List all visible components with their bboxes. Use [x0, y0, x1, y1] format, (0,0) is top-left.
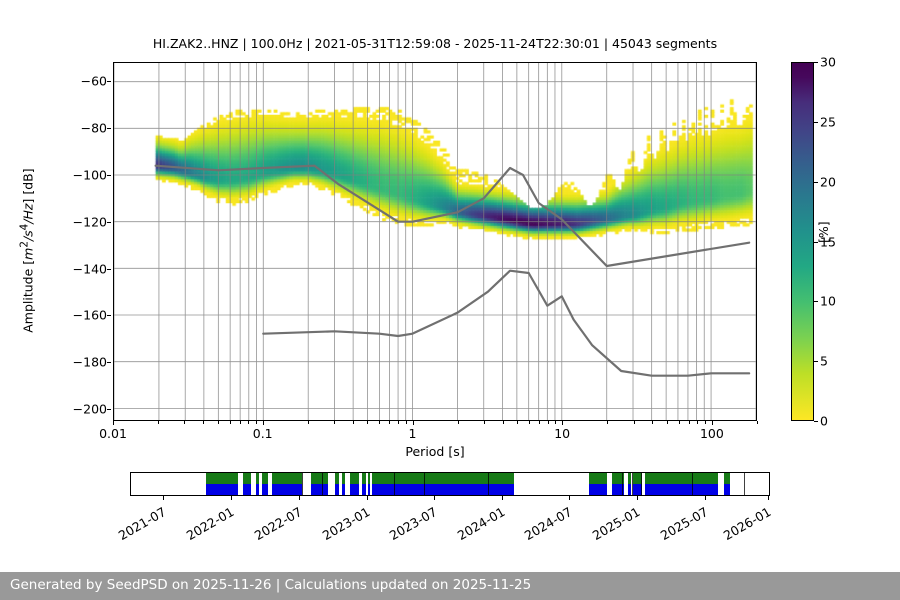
- timeline-segment[interactable]: [262, 473, 268, 495]
- psd-plot-area[interactable]: [113, 62, 757, 421]
- timeline-segment[interactable]: [206, 473, 239, 495]
- timeline-segment-upper: [272, 473, 303, 484]
- data-availability-timeline[interactable]: [130, 472, 770, 496]
- colorbar-tick-mark: [814, 182, 818, 183]
- x-tick-mark: [406, 421, 407, 424]
- timeline-tick-label: 2022-07: [252, 504, 305, 543]
- timeline-tick-label: 2023-01: [319, 504, 372, 543]
- x-axis-label: Period [s]: [113, 444, 757, 459]
- x-tick-mark: [256, 421, 257, 424]
- timeline-segment[interactable]: [342, 473, 345, 495]
- timeline-segment-upper: [724, 473, 730, 484]
- timeline-gap-marker: [322, 473, 323, 495]
- timeline-segment[interactable]: [368, 473, 370, 495]
- x-tick-label: 0.01: [99, 426, 127, 441]
- timeline-segment[interactable]: [645, 473, 718, 495]
- colorbar-tick-label: 10: [820, 294, 836, 309]
- x-tick-mark: [712, 421, 713, 425]
- timeline-segment-upper: [311, 473, 328, 484]
- x-tick-mark: [367, 421, 368, 424]
- y-tick-mark: [107, 222, 111, 223]
- footer-text: Generated by SeedPSD on 2025-11-26 | Cal…: [10, 577, 531, 593]
- timeline-tick-mark: [163, 496, 164, 500]
- x-tick-mark: [679, 421, 680, 424]
- x-tick-label: 10: [554, 426, 570, 441]
- x-tick-mark: [634, 421, 635, 424]
- timeline-segment-lower: [272, 484, 303, 495]
- timeline-segment-upper: [206, 473, 239, 484]
- x-tick-label: 1: [409, 426, 417, 441]
- x-tick-mark: [667, 421, 668, 424]
- x-tick-mark: [184, 421, 185, 424]
- colorbar-tick-label: 0: [820, 414, 828, 429]
- colorbar-tick-label: 15: [820, 234, 836, 249]
- timeline-tick-label: 2021-07: [116, 504, 169, 543]
- timeline-segment-lower: [243, 484, 251, 495]
- x-tick-mark: [607, 421, 608, 424]
- colorbar-tick-mark: [814, 301, 818, 302]
- psd-figure: HI.ZAK2..HNZ | 100.0Hz | 2021-05-31T12:5…: [0, 0, 900, 600]
- timeline-segment[interactable]: [335, 473, 339, 495]
- y-tick-mark: [107, 128, 111, 129]
- x-tick-mark: [484, 421, 485, 424]
- colorbar-tick-label: 20: [820, 174, 836, 189]
- timeline-segment-lower: [350, 484, 359, 495]
- timeline-gap-marker: [302, 473, 303, 495]
- x-tick-mark: [503, 421, 504, 424]
- timeline-segment[interactable]: [362, 473, 366, 495]
- timeline-gap-marker: [641, 473, 642, 495]
- x-tick-mark: [379, 421, 380, 424]
- timeline-tick-label: 2024-01: [454, 504, 507, 543]
- timeline-segment[interactable]: [724, 473, 730, 495]
- timeline-gap-marker: [488, 473, 489, 495]
- timeline-segment[interactable]: [256, 473, 259, 495]
- x-tick-mark: [548, 421, 549, 424]
- y-tick-label: −60: [81, 73, 107, 88]
- x-tick-mark: [398, 421, 399, 424]
- y-axis-label: Amplitude [m2/s4/Hz] [dB]: [18, 91, 35, 411]
- x-tick-mark: [263, 421, 264, 425]
- colorbar-tick-mark: [814, 62, 818, 63]
- x-tick-mark: [555, 421, 556, 424]
- timeline-segment-lower: [368, 484, 370, 495]
- x-tick-mark: [113, 421, 114, 425]
- timeline-segment-lower: [262, 484, 268, 495]
- timeline-segment[interactable]: [628, 473, 632, 495]
- x-tick-mark: [248, 421, 249, 424]
- page-title: HI.ZAK2..HNZ | 100.0Hz | 2021-05-31T12:5…: [113, 36, 757, 51]
- timeline-segment-upper: [350, 473, 359, 484]
- colorbar-tick-mark: [814, 122, 818, 123]
- timeline-segment-lower: [628, 484, 632, 495]
- x-tick-mark: [203, 421, 204, 424]
- y-tick-mark: [107, 175, 111, 176]
- timeline-tick-mark: [637, 496, 638, 500]
- timeline-tick-mark: [705, 496, 706, 500]
- timeline-tick-mark: [299, 496, 300, 500]
- timeline-segment-lower: [311, 484, 328, 495]
- colorbar-tick-mark: [814, 242, 818, 243]
- y-tick-mark: [107, 409, 111, 410]
- x-tick-mark: [705, 421, 706, 424]
- timeline-tick-label: 2025-01: [590, 504, 643, 543]
- colorbar-tick-label: 25: [820, 114, 836, 129]
- y-tick-label: −140: [73, 261, 107, 276]
- timeline-segment[interactable]: [589, 473, 607, 495]
- timeline-tick-label: 2025-07: [657, 504, 710, 543]
- timeline-tick-label: 2026-01: [720, 504, 773, 543]
- timeline-segment-lower: [335, 484, 339, 495]
- timeline-segment-upper: [342, 473, 345, 484]
- x-tick-mark: [652, 421, 653, 424]
- y-tick-label: −200: [73, 402, 107, 417]
- timeline-gap-marker: [632, 473, 633, 495]
- colorbar-tick-label: 30: [820, 55, 836, 70]
- timeline-tick-mark: [231, 496, 232, 500]
- x-tick-mark: [539, 421, 540, 424]
- timeline-segment-upper: [335, 473, 339, 484]
- timeline-segment-upper: [256, 473, 259, 484]
- x-tick-mark: [757, 421, 758, 424]
- y-tick-label: −120: [73, 214, 107, 229]
- x-tick-mark: [517, 421, 518, 424]
- colorbar-tick-label: 5: [820, 354, 828, 369]
- timeline-segment-upper: [362, 473, 366, 484]
- x-tick-mark: [334, 421, 335, 424]
- x-tick-mark: [529, 421, 530, 424]
- timeline-segment-lower: [589, 484, 607, 495]
- x-tick-mark: [240, 421, 241, 424]
- timeline-segment[interactable]: [272, 473, 303, 495]
- timeline-segment-lower: [362, 484, 366, 495]
- timeline-gap-marker: [424, 473, 425, 495]
- y-tick-label: −80: [81, 120, 107, 135]
- timeline-tick-mark: [569, 496, 570, 500]
- timeline-gap-marker: [744, 473, 745, 495]
- psd-density-heatmap: [114, 63, 756, 420]
- timeline-segment-lower: [206, 484, 239, 495]
- timeline-segment-upper: [368, 473, 370, 484]
- timeline-tick-mark: [768, 496, 769, 500]
- timeline-segment-upper: [645, 473, 718, 484]
- x-tick-mark: [308, 421, 309, 424]
- x-tick-mark: [458, 421, 459, 424]
- timeline-tick-mark: [367, 496, 368, 500]
- timeline-tick-mark: [502, 496, 503, 500]
- timeline-tick-label: 2023-07: [387, 504, 440, 543]
- timeline-gap-marker: [692, 473, 693, 495]
- timeline-segment-upper: [628, 473, 632, 484]
- timeline-segment-upper: [243, 473, 251, 484]
- y-tick-mark: [107, 81, 111, 82]
- x-tick-mark: [389, 421, 390, 424]
- timeline-segment[interactable]: [243, 473, 251, 495]
- y-tick-mark: [107, 269, 111, 270]
- x-tick-mark: [218, 421, 219, 424]
- x-tick-mark: [413, 421, 414, 425]
- y-tick-mark: [107, 362, 111, 363]
- timeline-gap-marker: [394, 473, 395, 495]
- y-tick-label: −160: [73, 308, 107, 323]
- timeline-segment-lower: [342, 484, 345, 495]
- timeline-tick-mark: [434, 496, 435, 500]
- timeline-segment[interactable]: [350, 473, 359, 495]
- timeline-tick-label: 2022-01: [183, 504, 236, 543]
- timeline-segment-lower: [256, 484, 259, 495]
- x-tick-label: 100: [700, 426, 724, 441]
- x-tick-mark: [230, 421, 231, 424]
- timeline-tick-label: 2024-07: [522, 504, 575, 543]
- x-tick-mark: [353, 421, 354, 424]
- colorbar-tick-mark: [814, 361, 818, 362]
- y-tick-label: −180: [73, 355, 107, 370]
- timeline-segment[interactable]: [311, 473, 328, 495]
- colorbar-tick-mark: [814, 421, 818, 422]
- timeline-segment-upper: [589, 473, 607, 484]
- timeline-segment-lower: [645, 484, 718, 495]
- x-tick-mark: [158, 421, 159, 424]
- x-tick-mark: [697, 421, 698, 424]
- y-tick-mark: [107, 315, 111, 316]
- timeline-segment-upper: [262, 473, 268, 484]
- y-tick-label: −100: [73, 167, 107, 182]
- timeline-gap-marker: [622, 473, 623, 495]
- colorbar: [791, 62, 814, 421]
- x-tick-label: 0.1: [253, 426, 273, 441]
- x-tick-mark: [562, 421, 563, 425]
- timeline-segment-lower: [724, 484, 730, 495]
- x-tick-mark: [689, 421, 690, 424]
